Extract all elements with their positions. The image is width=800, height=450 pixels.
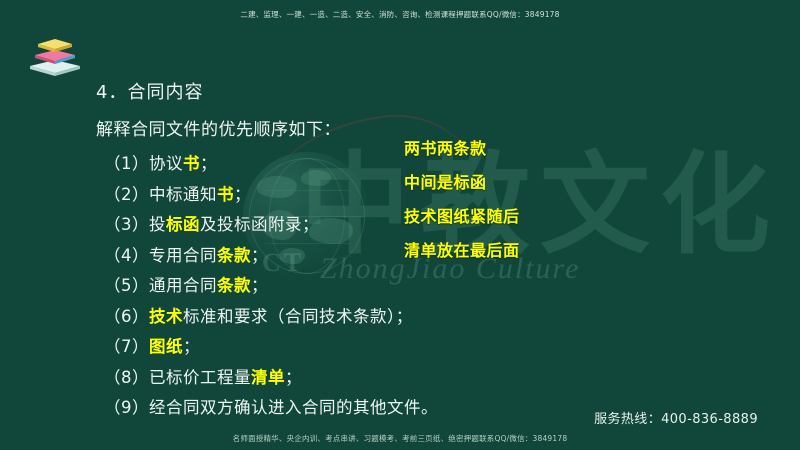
stacked-books-logo [27,30,83,78]
mnemonic-line: 清单放在最后面 [404,243,520,259]
mnemonic-line: 中间是标函 [404,175,520,209]
list-item-highlight: 清单 [251,368,285,387]
list-item-text: ； [183,337,200,356]
list-item-number: （8） [104,368,149,387]
mnemonic-line: 两书两条款 [404,141,520,175]
list-item-number: （5） [104,276,149,295]
list-item-text: 及投标函附录； [200,215,319,234]
mnemonic-line: 技术图纸紧随后 [404,209,520,243]
list-item-text: ； [285,368,302,387]
list-item-number: （7） [104,337,149,356]
list-item-text: 通用合同 [149,276,217,295]
list-item-text: 专用合同 [149,246,217,265]
page-subtitle: 解释合同文件的优先顺序如下： [96,115,736,140]
list-item-highlight: 条款 [217,246,251,265]
list-item-highlight: 书 [183,154,200,173]
bottom-promo-banner: 名师面授精华、央企内训、考点串讲、习题模考、考前三页纸、绝密押题联系QQ/微信：… [0,433,800,444]
slide-canvas: 中教文化 CT ZhongJiao Culture 二建、监理、一建、一造、二造… [0,0,800,450]
list-item-highlight: 书 [217,185,234,204]
list-item-text: ； [251,276,268,295]
list-item-text: 已标价工程量 [149,368,251,387]
service-hotline: 服务热线：400-836-8889 [594,408,758,427]
list-item-text: ； [251,246,268,265]
list-item-text: ； [234,185,251,204]
list-item: （5）通用合同条款； [96,271,736,302]
list-item-text: ； [200,154,217,173]
list-item-number: （4） [104,246,149,265]
list-item-number: （6） [104,307,149,326]
list-item-number: （3） [104,215,149,234]
list-item-text: 投 [149,215,166,234]
mnemonic-callout: 两书两条款中间是标函技术图纸紧随后清单放在最后面 [404,141,520,259]
list-item-number: （9） [104,398,149,417]
list-item-highlight: 条款 [217,276,251,295]
list-item: （7）图纸； [96,332,736,363]
list-item-highlight: 技术 [149,307,183,326]
list-item-text: 标准和要求（合同技术条款）； [183,307,413,326]
list-item-highlight: 图纸 [149,337,183,356]
top-promo-banner: 二建、监理、一建、一造、二造、安全、消防、咨询、检测课程押题联系QQ/微信：38… [0,9,800,20]
list-item-text: 中标通知 [149,185,217,204]
list-item: （6）技术标准和要求（合同技术条款）； [96,302,736,333]
list-item-number: （1） [104,154,149,173]
list-item-number: （2） [104,185,149,204]
list-item-highlight: 标函 [166,215,200,234]
list-item-text: 经合同双方确认进入合同的其他文件。 [149,398,438,417]
page-title: 4．合同内容 [96,78,736,104]
list-item: （8）已标价工程量清单； [96,363,736,394]
list-item-text: 协议 [149,154,183,173]
